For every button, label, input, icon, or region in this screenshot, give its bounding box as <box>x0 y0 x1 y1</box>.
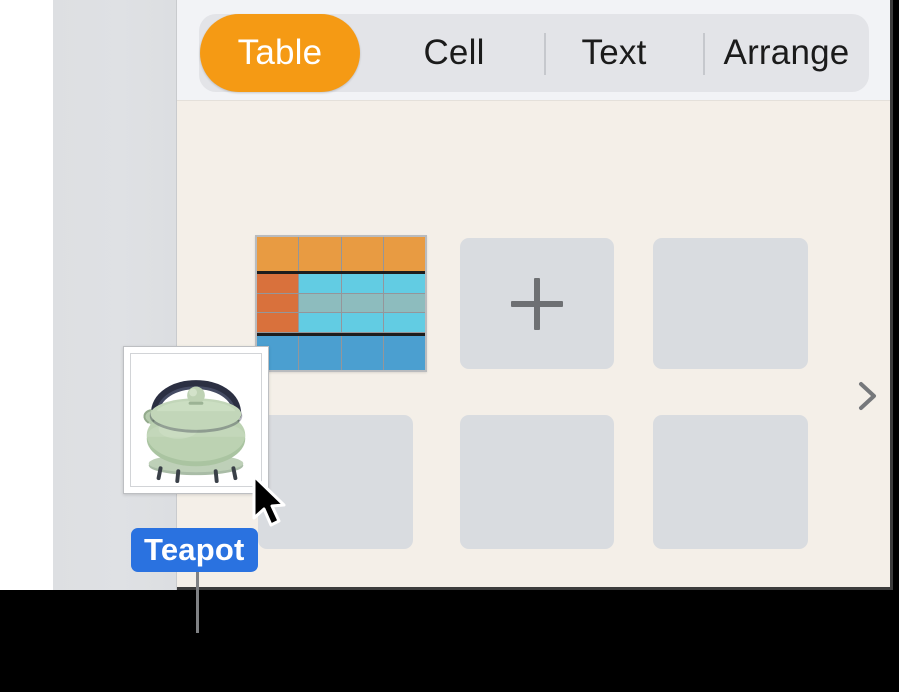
teapot-image-thumbnail[interactable] <box>123 346 269 494</box>
format-inspector-panel: Table Cell Text Arrange <box>177 0 893 590</box>
screen: Table Cell Text Arrange <box>0 0 899 692</box>
tab-arrange[interactable]: Arrange <box>704 14 869 92</box>
status-badge: Teapot <box>131 528 258 572</box>
table-style-body-row <box>257 313 425 333</box>
tab-arrange-label: Arrange <box>724 33 850 73</box>
inspector-tabbar: Table Cell Text Arrange <box>177 0 890 101</box>
table-style-thumbnail[interactable] <box>255 235 427 372</box>
teapot-image <box>130 353 262 487</box>
status-badge-label: Teapot <box>144 532 245 568</box>
tab-cell[interactable]: Cell <box>384 14 524 92</box>
table-style-header-row <box>257 237 425 274</box>
tab-table-label: Table <box>238 33 323 73</box>
table-style-body-row <box>257 274 425 294</box>
add-table-style-button[interactable] <box>460 238 614 369</box>
table-style-placeholder[interactable] <box>653 238 808 369</box>
tab-segmented-control[interactable]: Table Cell Text Arrange <box>199 14 869 92</box>
document-canvas <box>53 0 177 590</box>
table-style-placeholder[interactable] <box>460 415 614 549</box>
tab-text[interactable]: Text <box>544 14 684 92</box>
tab-text-label: Text <box>582 33 647 73</box>
table-style-footer-row <box>257 333 425 370</box>
table-style-body-row <box>257 294 425 314</box>
tab-cell-label: Cell <box>423 33 484 73</box>
document-page-edge <box>0 0 53 590</box>
tab-divider-1 <box>544 33 546 75</box>
plus-icon <box>511 278 563 330</box>
table-styles-grid: Table Styles <box>177 101 890 590</box>
table-style-placeholder[interactable] <box>258 415 413 549</box>
tab-divider-2 <box>703 33 705 75</box>
callout-leader-line <box>196 570 199 633</box>
chevron-right-icon[interactable] <box>850 376 884 416</box>
table-styles-label: Table Styles <box>177 584 890 590</box>
tab-table[interactable]: Table <box>200 14 360 92</box>
table-style-placeholder[interactable] <box>653 415 808 549</box>
